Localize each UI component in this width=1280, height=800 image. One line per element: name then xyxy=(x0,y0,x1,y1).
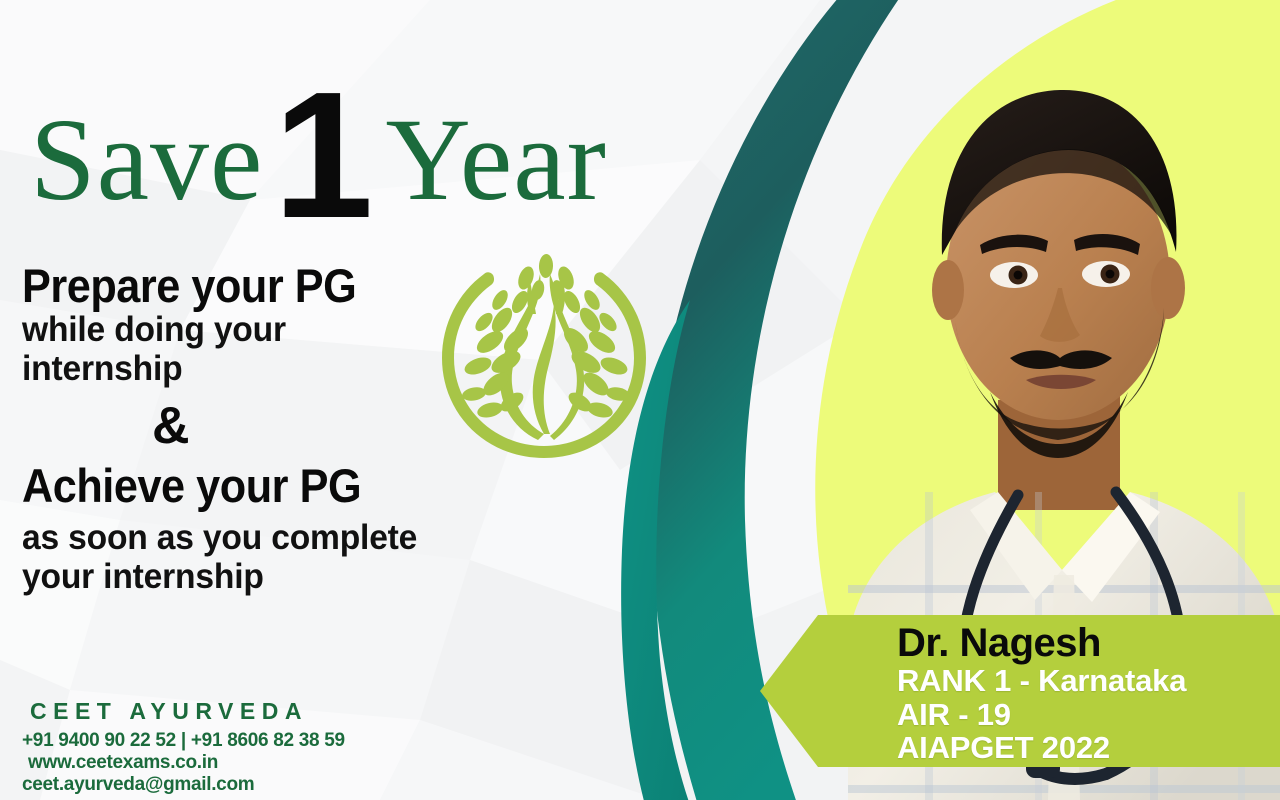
copy-achieve-line-2: your internship xyxy=(22,557,598,596)
copy-achieve-heading: Achieve your PG xyxy=(22,462,574,510)
contact-email[interactable]: ceet.ayurveda@gmail.com xyxy=(22,774,345,796)
headline-word-save: Save xyxy=(30,104,263,216)
contact-info-block: CEET AYURVEDA +91 9400 90 22 52 | +91 86… xyxy=(22,698,345,796)
promotional-poster: Save 1 Year Prepare your PG while doing … xyxy=(0,0,1280,800)
ayurveda-tree-logo-icon xyxy=(434,244,654,468)
headline-word-year: Year xyxy=(385,104,606,216)
achiever-air: AIR - 19 xyxy=(835,698,1280,731)
contact-website[interactable]: www.ceetexams.co.in xyxy=(22,752,345,774)
achiever-exam: AIAPGET 2022 xyxy=(835,731,1280,764)
headline-number-one: 1 xyxy=(273,86,373,226)
contact-phone-numbers[interactable]: +91 9400 90 22 52 | +91 8606 82 38 59 xyxy=(22,730,345,752)
page-title: Save 1 Year xyxy=(30,86,607,216)
achiever-name-banner-text: Dr. Nagesh RANK 1 - Karnataka AIR - 19 A… xyxy=(835,622,1280,764)
achiever-name: Dr. Nagesh xyxy=(835,622,1280,664)
brand-name: CEET AYURVEDA xyxy=(22,698,345,725)
copy-achieve-line-1: as soon as you complete xyxy=(22,518,598,557)
achiever-rank: RANK 1 - Karnataka xyxy=(835,664,1280,697)
